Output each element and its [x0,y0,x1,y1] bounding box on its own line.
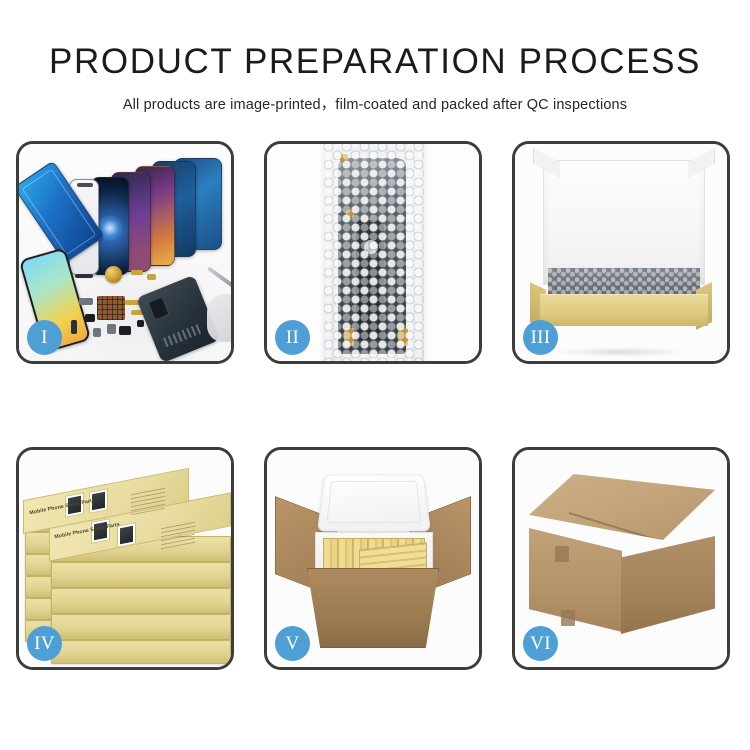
foam-sheet [548,194,700,270]
drop-shadow [553,347,689,357]
step-6-image: VI [515,450,727,667]
carton-body [307,568,439,648]
bubble-wrap-contents [548,268,700,297]
step-badge-4: IV [27,626,62,661]
page-title: PRODUCT PREPARATION PROCESS [0,44,750,81]
step-panel-2[interactable]: II [264,141,482,364]
stack-box-fr-4 [51,614,231,640]
step-badge-3: III [523,320,558,355]
part-connector-1 [131,270,143,275]
step-panel-5[interactable]: V [264,447,482,670]
carton-tape-lower [561,610,575,626]
step-panel-4[interactable]: Mobile Phone Spare Parts Mobile Phone Sp… [16,447,234,670]
stack-box-fr-5 [51,640,231,664]
process-steps-grid: I II [16,141,734,676]
box-front-kraft [540,294,708,326]
part-connector-2 [147,274,156,280]
header: PRODUCT PREPARATION PROCESS All products… [0,0,750,114]
bubble-wrap-bag [324,144,424,361]
step-panel-1[interactable]: I [16,141,234,364]
step-2-image: II [267,144,479,361]
foam-lid [317,475,431,532]
part-chip-3 [137,320,144,327]
carton-tape-upper [555,546,569,562]
stack-box-fr-3 [51,588,231,614]
step-badge-1: I [27,320,62,355]
part-bracket-3 [93,328,101,337]
product-preparation-infographic: PRODUCT PREPARATION PROCESS All products… [0,0,750,750]
step-4-image: Mobile Phone Spare Parts Mobile Phone Sp… [19,450,231,667]
part-bracket-2 [107,324,116,334]
hand-holding-tool [207,294,231,342]
step-3-image: III [515,144,727,361]
step-badge-6: VI [523,626,558,661]
speaker-coil-part [105,266,122,283]
part-strip-1 [75,274,93,278]
step-1-image: I [19,144,231,361]
stack-box-fr-2 [51,562,231,588]
bubble-highlight-texture [324,144,424,361]
step-badge-2: II [275,320,310,355]
step-5-image: V [267,450,479,667]
step-panel-6[interactable]: VI [512,447,730,670]
step-badge-5: V [275,626,310,661]
step-panel-3[interactable]: III [512,141,730,364]
part-bracket-1 [79,298,93,305]
part-chip-1 [85,314,95,322]
page-subtitle: All products are image-printed，film-coat… [0,93,750,114]
part-strip-2 [71,320,77,334]
part-chip-2 [119,326,131,335]
chip-array-part [97,296,125,320]
